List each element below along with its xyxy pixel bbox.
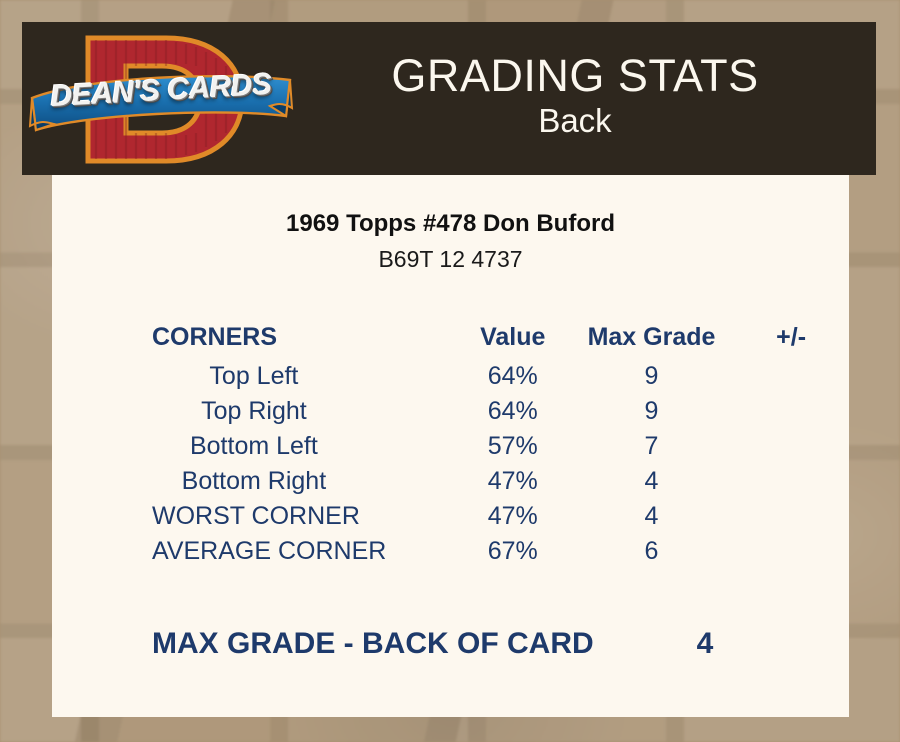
- header-title-block: GRADING STATS Back: [300, 53, 876, 144]
- row-max-grade: 7: [570, 429, 733, 464]
- row-max-grade: 9: [570, 359, 733, 394]
- row-value: 47%: [456, 499, 570, 534]
- header-bar: DEAN'S CARDS GRADING STATS Back: [22, 22, 876, 175]
- row-max-grade: 9: [570, 394, 733, 429]
- table-header-row: CORNERS Value Max Grade +/-: [52, 315, 849, 359]
- row-max-grade: 4: [570, 464, 733, 499]
- row-value: 47%: [456, 464, 570, 499]
- row-plus-minus: [733, 534, 849, 569]
- row-plus-minus: [733, 429, 849, 464]
- max-grade-value: 4: [612, 627, 798, 661]
- table-row: Bottom Left57%7: [52, 429, 849, 464]
- grading-stats-table: CORNERS Value Max Grade +/- Top Left64%9…: [52, 315, 849, 569]
- max-grade-summary-row: MAX GRADE - BACK OF CARD 4: [52, 627, 849, 661]
- max-grade-label: MAX GRADE - BACK OF CARD: [52, 627, 612, 661]
- row-value: 67%: [456, 534, 570, 569]
- row-value: 64%: [456, 394, 570, 429]
- row-value: 64%: [456, 359, 570, 394]
- table-row: AVERAGE CORNER67%6: [52, 534, 849, 569]
- table-row: Top Left64%9: [52, 359, 849, 394]
- row-label: Bottom Left: [52, 429, 456, 464]
- row-plus-minus: [733, 499, 849, 534]
- table-header: CORNERS Value Max Grade +/-: [52, 315, 849, 359]
- row-max-grade: 6: [570, 534, 733, 569]
- column-header-max-grade: Max Grade: [570, 315, 733, 359]
- row-max-grade: 4: [570, 499, 733, 534]
- page-title: GRADING STATS: [300, 53, 850, 99]
- table-row: Bottom Right47%4: [52, 464, 849, 499]
- row-value: 57%: [456, 429, 570, 464]
- row-plus-minus: [733, 464, 849, 499]
- table-row: Top Right64%9: [52, 394, 849, 429]
- column-header-corners: CORNERS: [52, 315, 456, 359]
- row-label: Top Left: [52, 359, 456, 394]
- table-body: Top Left64%9Top Right64%9Bottom Left57%7…: [52, 359, 849, 569]
- row-label: WORST CORNER: [52, 499, 456, 534]
- row-label: Top Right: [52, 394, 456, 429]
- deans-cards-logo[interactable]: DEAN'S CARDS: [22, 22, 300, 175]
- row-label: Bottom Right: [52, 464, 456, 499]
- row-plus-minus: [733, 394, 849, 429]
- table-row: WORST CORNER47%4: [52, 499, 849, 534]
- column-header-plus-minus: +/-: [733, 315, 849, 359]
- column-header-value: Value: [456, 315, 570, 359]
- row-label: AVERAGE CORNER: [52, 534, 456, 569]
- page-subtitle: Back: [300, 99, 850, 144]
- card-title: 1969 Topps #478 Don Buford: [52, 210, 849, 238]
- card-sku: B69T 12 4737: [52, 246, 849, 273]
- row-plus-minus: [733, 359, 849, 394]
- stats-panel: 1969 Topps #478 Don Buford B69T 12 4737 …: [52, 175, 849, 717]
